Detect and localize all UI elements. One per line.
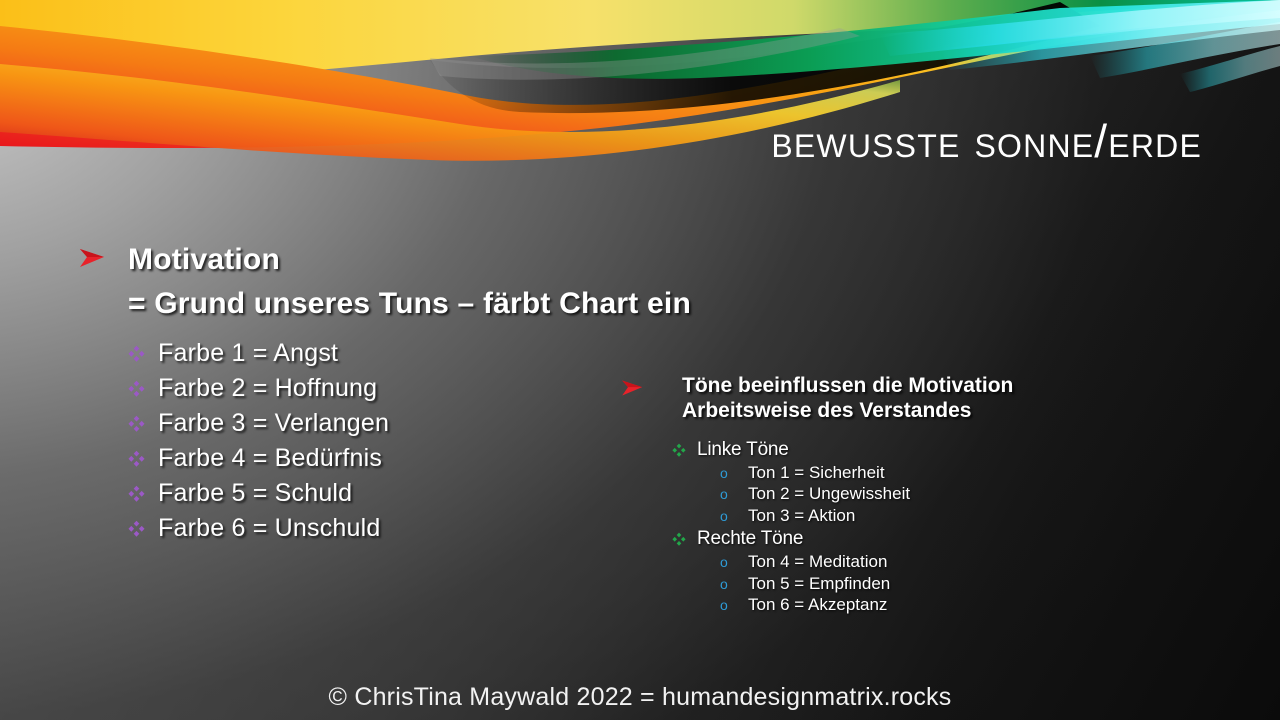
purple-diamond-icon [128,380,158,397]
list-item-label: Ton 6 = Akzeptanz [748,595,887,615]
presentation-slide: Bewusste Sonne/Erde Motivation = Grund u… [0,0,1280,720]
list-item: Farbe 4 = Bedürfnis [128,441,548,476]
toene-group-heading: Linke Töne [672,437,1152,462]
list-item: Farbe 1 = Angst [128,336,548,371]
list-item-label: Ton 2 = Ungewissheit [748,484,910,504]
list-item-label: Ton 3 = Aktion [748,506,855,526]
list-item-label: Farbe 3 = Verlangen [158,409,389,438]
list-item-label: Ton 4 = Meditation [748,552,887,572]
toene-heading-text: Töne beeinflussen die Motivation Arbeits… [682,374,1013,424]
list-item-label: Farbe 5 = Schuld [158,479,352,508]
list-item: Farbe 2 = Hoffnung [128,371,548,406]
main-bullet-motivation: Motivation = Grund unseres Tuns – färbt … [78,238,898,325]
list-item: Farbe 6 = Unschuld [128,511,548,546]
slide-title: Bewusste Sonne/Erde [771,118,1202,164]
farben-list: Farbe 1 = AngstFarbe 2 = HoffnungFarbe 3… [128,336,548,546]
list-item: Farbe 3 = Verlangen [128,406,548,441]
purple-diamond-icon [128,485,158,502]
main-bullet-line1: Motivation [128,238,691,282]
blue-circle-icon: o [720,555,748,569]
blue-circle-icon: o [720,487,748,501]
list-item: Farbe 5 = Schuld [128,476,548,511]
list-item-label: Ton 5 = Empfinden [748,574,890,594]
toene-group-heading: Rechte Töne [672,527,1152,552]
list-item-label: Ton 1 = Sicherheit [748,463,885,483]
toene-heading-line2: Arbeitsweise des Verstandes [682,399,1013,424]
list-item-label: Farbe 2 = Hoffnung [158,374,377,403]
toene-heading-bullet: Töne beeinflussen die Motivation Arbeits… [620,374,1180,424]
list-item-label: Farbe 6 = Unschuld [158,514,380,543]
green-diamond-icon [672,532,697,546]
list-item-label: Farbe 1 = Angst [158,339,338,368]
green-diamond-icon [672,443,697,457]
toene-group-label: Rechte Töne [697,528,803,550]
red-arrow-icon [78,246,108,270]
toene-heading-line1: Töne beeinflussen die Motivation [682,374,1013,399]
blue-circle-icon: o [720,466,748,480]
toene-group-label: Linke Töne [697,439,789,461]
main-bullet-line2: = Grund unseres Tuns – färbt Chart ein [128,282,691,326]
footer-credit: © ChrisTina Maywald 2022 = humandesignma… [0,683,1280,712]
list-item: oTon 6 = Akzeptanz [720,595,1152,617]
list-item: oTon 1 = Sicherheit [720,462,1152,484]
purple-diamond-icon [128,415,158,432]
blue-circle-icon: o [720,509,748,523]
list-item: oTon 2 = Ungewissheit [720,484,1152,506]
purple-diamond-icon [128,520,158,537]
list-item: oTon 4 = Meditation [720,552,1152,574]
decorative-wave-graphic [0,0,1280,200]
purple-diamond-icon [128,345,158,362]
list-item: oTon 5 = Empfinden [720,573,1152,595]
blue-circle-icon: o [720,598,748,612]
red-arrow-icon [620,378,650,402]
toene-groups: Linke TöneoTon 1 = SicherheitoTon 2 = Un… [672,437,1152,616]
list-item-label: Farbe 4 = Bedürfnis [158,444,382,473]
blue-circle-icon: o [720,577,748,591]
purple-diamond-icon [128,450,158,467]
list-item: oTon 3 = Aktion [720,505,1152,527]
main-bullet-text: Motivation = Grund unseres Tuns – färbt … [128,238,691,325]
